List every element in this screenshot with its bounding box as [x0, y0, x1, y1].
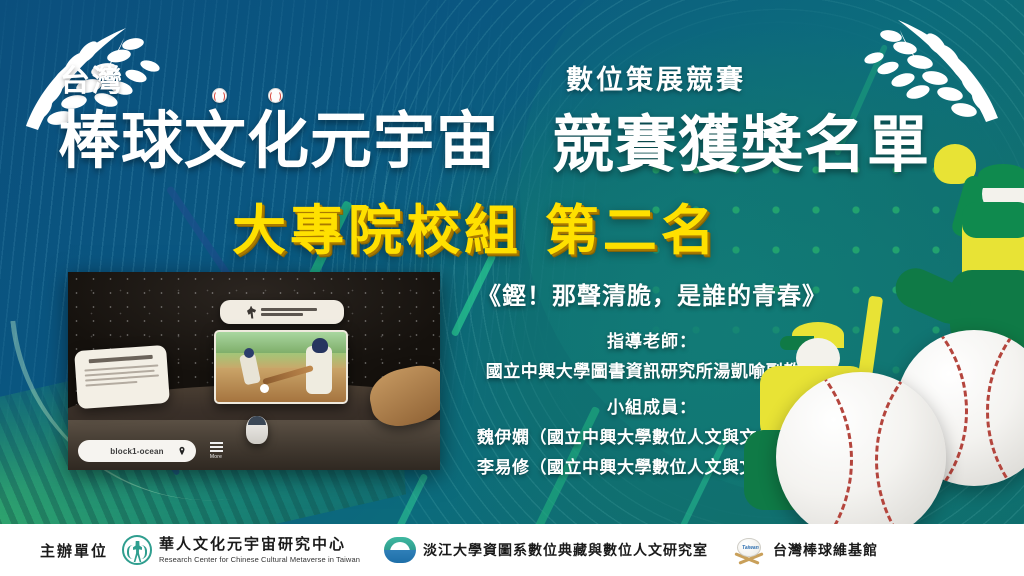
- metaverse-center-logo-icon: [122, 535, 152, 565]
- organizer-1-name-cn: 華人文化元宇宙研究中心: [159, 536, 360, 553]
- baseball-wiki-mark-text: Taiwan: [742, 545, 759, 551]
- sponsor-footer: 主辦單位 華人文化元宇宙研究中心 Research Center for Chi…: [0, 524, 1024, 576]
- more-menu-button[interactable]: More: [204, 442, 228, 460]
- organizer-2-name-cn: 淡江大學資圖系數位典藏與數位人文研究室: [423, 540, 708, 560]
- organizer-1-name-en: Research Center for Chinese Cultural Met…: [159, 555, 360, 564]
- organizer-3-name-cn: 台灣棒球維基館: [773, 540, 878, 560]
- location-label: block1-ocean: [110, 447, 164, 456]
- screenshot-toolbar: block1-ocean More: [78, 440, 228, 462]
- exhibit-sign: [220, 300, 344, 324]
- more-label: More: [204, 454, 228, 460]
- project-screenshot: block1-ocean More: [68, 272, 440, 470]
- hamburger-menu-icon: [204, 442, 228, 452]
- sign-text-lines: [261, 308, 317, 316]
- organizer-1: 華人文化元宇宙研究中心 Research Center for Chinese …: [122, 535, 360, 565]
- organizer-3: Taiwan 台灣棒球維基館: [732, 537, 878, 563]
- organizer-2: 淡江大學資圖系數位典藏與數位人文研究室: [384, 537, 708, 563]
- location-field[interactable]: block1-ocean: [78, 440, 196, 462]
- baseball-icon: [776, 372, 946, 542]
- baseball-icon: [268, 88, 283, 103]
- baseball-wiki-logo-icon: Taiwan: [732, 537, 766, 563]
- location-pin-icon[interactable]: [177, 445, 187, 457]
- award-poster: 台灣 棒球文化元宇宙 數位策展競賽 競賽獲獎名單 大專院校組 第二名: [0, 0, 1024, 576]
- exhibit-info-card: [74, 345, 170, 409]
- baseball-icon: [212, 88, 227, 103]
- exhibit-artwork: [214, 330, 348, 404]
- avatar: [246, 416, 268, 444]
- competition-kicker: 數位策展競賽: [566, 58, 746, 97]
- award-category-rank: 大專院校組 第二名: [232, 186, 719, 265]
- organizer-label: 主辦單位: [40, 540, 108, 561]
- batter-icon: [247, 306, 256, 319]
- main-title-left: 棒球文化元宇宙: [58, 90, 499, 180]
- baseball-players-illustration: [764, 150, 1024, 520]
- tku-wave-logo-icon: [384, 537, 416, 563]
